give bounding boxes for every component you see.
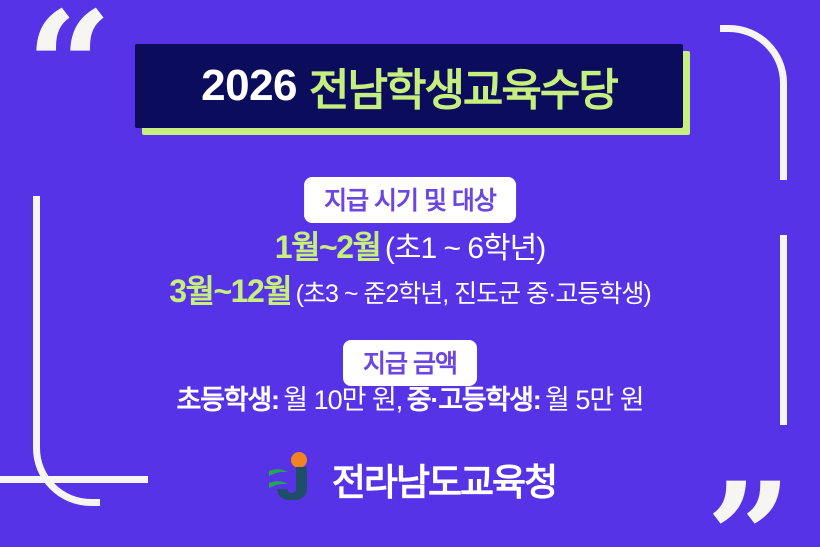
amount-line: 초등학생: 월 10만 원, 중·고등학생: 월 5만 원 xyxy=(0,378,820,417)
title-program-name: 전남학생교육수당 xyxy=(309,54,617,118)
schedule-line-1-period: 1월~2월 xyxy=(275,229,381,265)
title-banner-wrapper: 2026 전남학생교육수당 xyxy=(135,44,683,128)
title-year: 2026 xyxy=(201,61,297,111)
open-quote-icon: “ xyxy=(26,0,112,142)
amount-elementary-value: 월 10만 원, xyxy=(283,385,402,415)
section-pill-schedule: 지급 시기 및 대상 xyxy=(304,177,516,223)
schedule-line-2-target: (초3 ~ 준2학년, 진도군 중·고등학생) xyxy=(296,280,651,308)
amount-secondary-value: 월 5만 원 xyxy=(545,385,644,415)
poster-canvas: “ ” 2026 전남학생교육수당 지급 시기 및 대상 1월~2월 (초1 ~… xyxy=(0,0,820,547)
amount-elementary-label: 초등학생: xyxy=(176,385,278,415)
schedule-line-2: 3월~12월 (초3 ~ 준2학년, 진도군 중·고등학생) xyxy=(0,266,820,312)
amount-secondary-label: 중·고등학생: xyxy=(407,385,541,415)
schedule-line-2-period: 3월~12월 xyxy=(169,273,291,309)
schedule-line-1: 1월~2월 (초1 ~ 6학년) xyxy=(0,222,820,268)
title-banner: 2026 전남학생교육수당 xyxy=(135,44,683,128)
logo-organization-name: 전라남도교육청 xyxy=(332,452,556,506)
frame-right-mask xyxy=(600,25,720,37)
jeonnam-education-office-logo-icon xyxy=(264,450,322,508)
logo-row: 전라남도교육청 xyxy=(0,450,820,508)
schedule-line-1-target: (초1 ~ 6학년) xyxy=(385,232,545,265)
